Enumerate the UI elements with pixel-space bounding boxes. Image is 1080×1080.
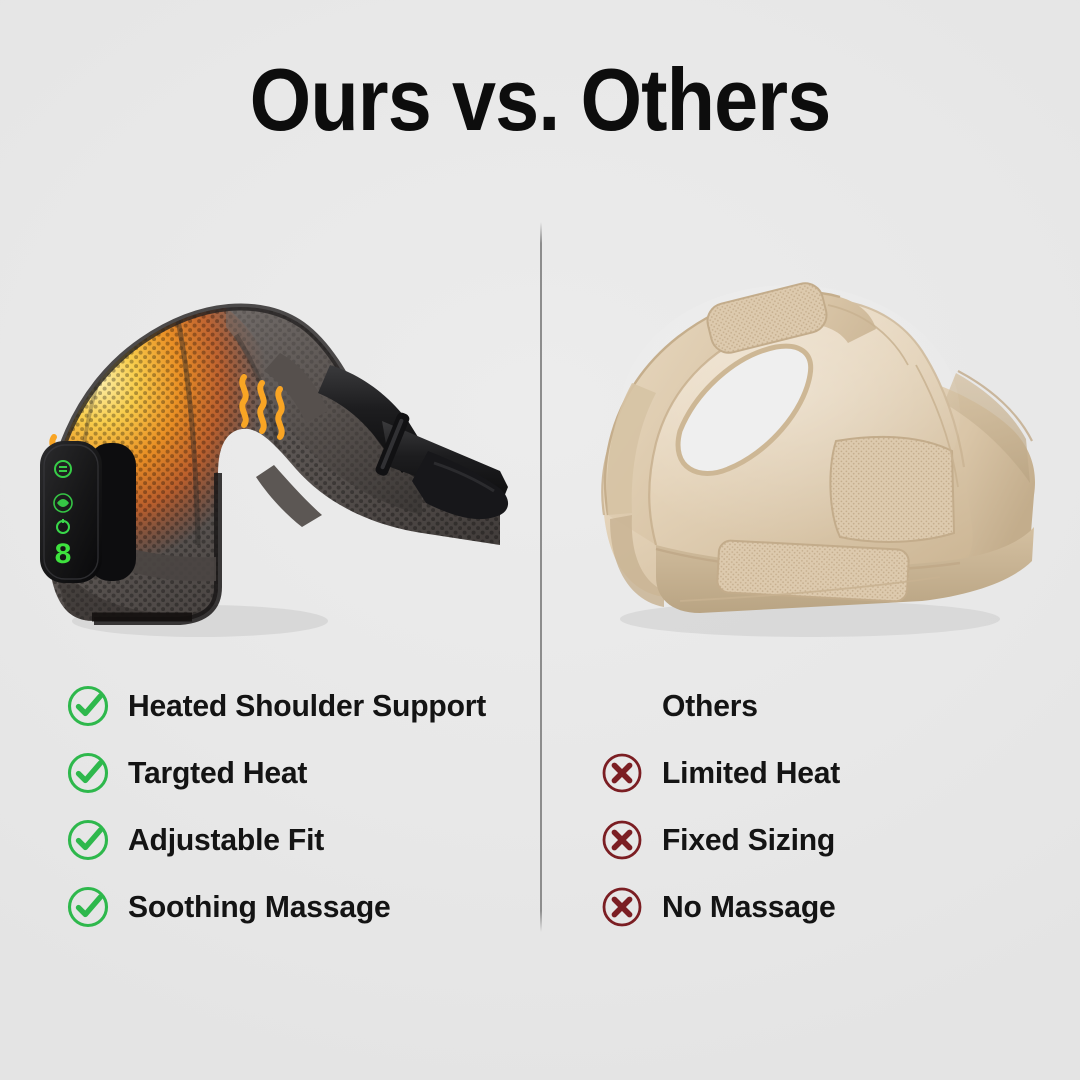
beige-shoulder-brace-image <box>560 215 1060 655</box>
others-heading: Others <box>662 688 758 724</box>
list-item-label: Targted Heat <box>128 755 307 791</box>
check-circle-icon <box>66 684 110 728</box>
list-item[interactable]: Adjustable Fit <box>66 806 536 873</box>
x-circle-icon <box>600 818 644 862</box>
list-item[interactable]: Limited Heat <box>600 739 1040 806</box>
controller-display-value: 8 <box>54 539 72 573</box>
list-item-label: Fixed Sizing <box>662 822 835 858</box>
check-circle-icon <box>66 885 110 929</box>
others-product-stage <box>560 215 1060 655</box>
ours-feature-list: Heated Shoulder Support Targted Heat Adj… <box>66 672 536 940</box>
list-item-label: Limited Heat <box>662 755 840 791</box>
x-circle-icon <box>600 751 644 795</box>
list-item[interactable]: Heated Shoulder Support <box>66 672 536 739</box>
list-item-label: Heated Shoulder Support <box>128 688 486 724</box>
list-item[interactable]: Fixed Sizing <box>600 806 1040 873</box>
heated-shoulder-brace-image: 8 <box>30 215 530 655</box>
comparison-poster: Ours vs. Others <box>0 0 1080 1080</box>
others-heading-row: Others <box>600 672 1040 739</box>
check-circle-icon <box>66 751 110 795</box>
list-item[interactable]: Targted Heat <box>66 739 536 806</box>
page-title: Ours vs. Others <box>54 56 1026 144</box>
list-item[interactable]: Soothing Massage <box>66 873 536 940</box>
others-feature-list: Others Limited Heat Fixed Sizing <box>600 672 1040 940</box>
list-item[interactable]: No Massage <box>600 873 1040 940</box>
list-item-label: No Massage <box>662 889 836 925</box>
check-circle-icon <box>66 818 110 862</box>
list-item-label: Soothing Massage <box>128 889 391 925</box>
ours-product-stage: 8 <box>30 215 530 655</box>
x-circle-icon <box>600 885 644 929</box>
velcro-pad-chest <box>830 437 954 542</box>
list-item-label: Adjustable Fit <box>128 822 324 858</box>
controller-module: 8 <box>40 441 136 583</box>
column-divider <box>540 222 542 932</box>
